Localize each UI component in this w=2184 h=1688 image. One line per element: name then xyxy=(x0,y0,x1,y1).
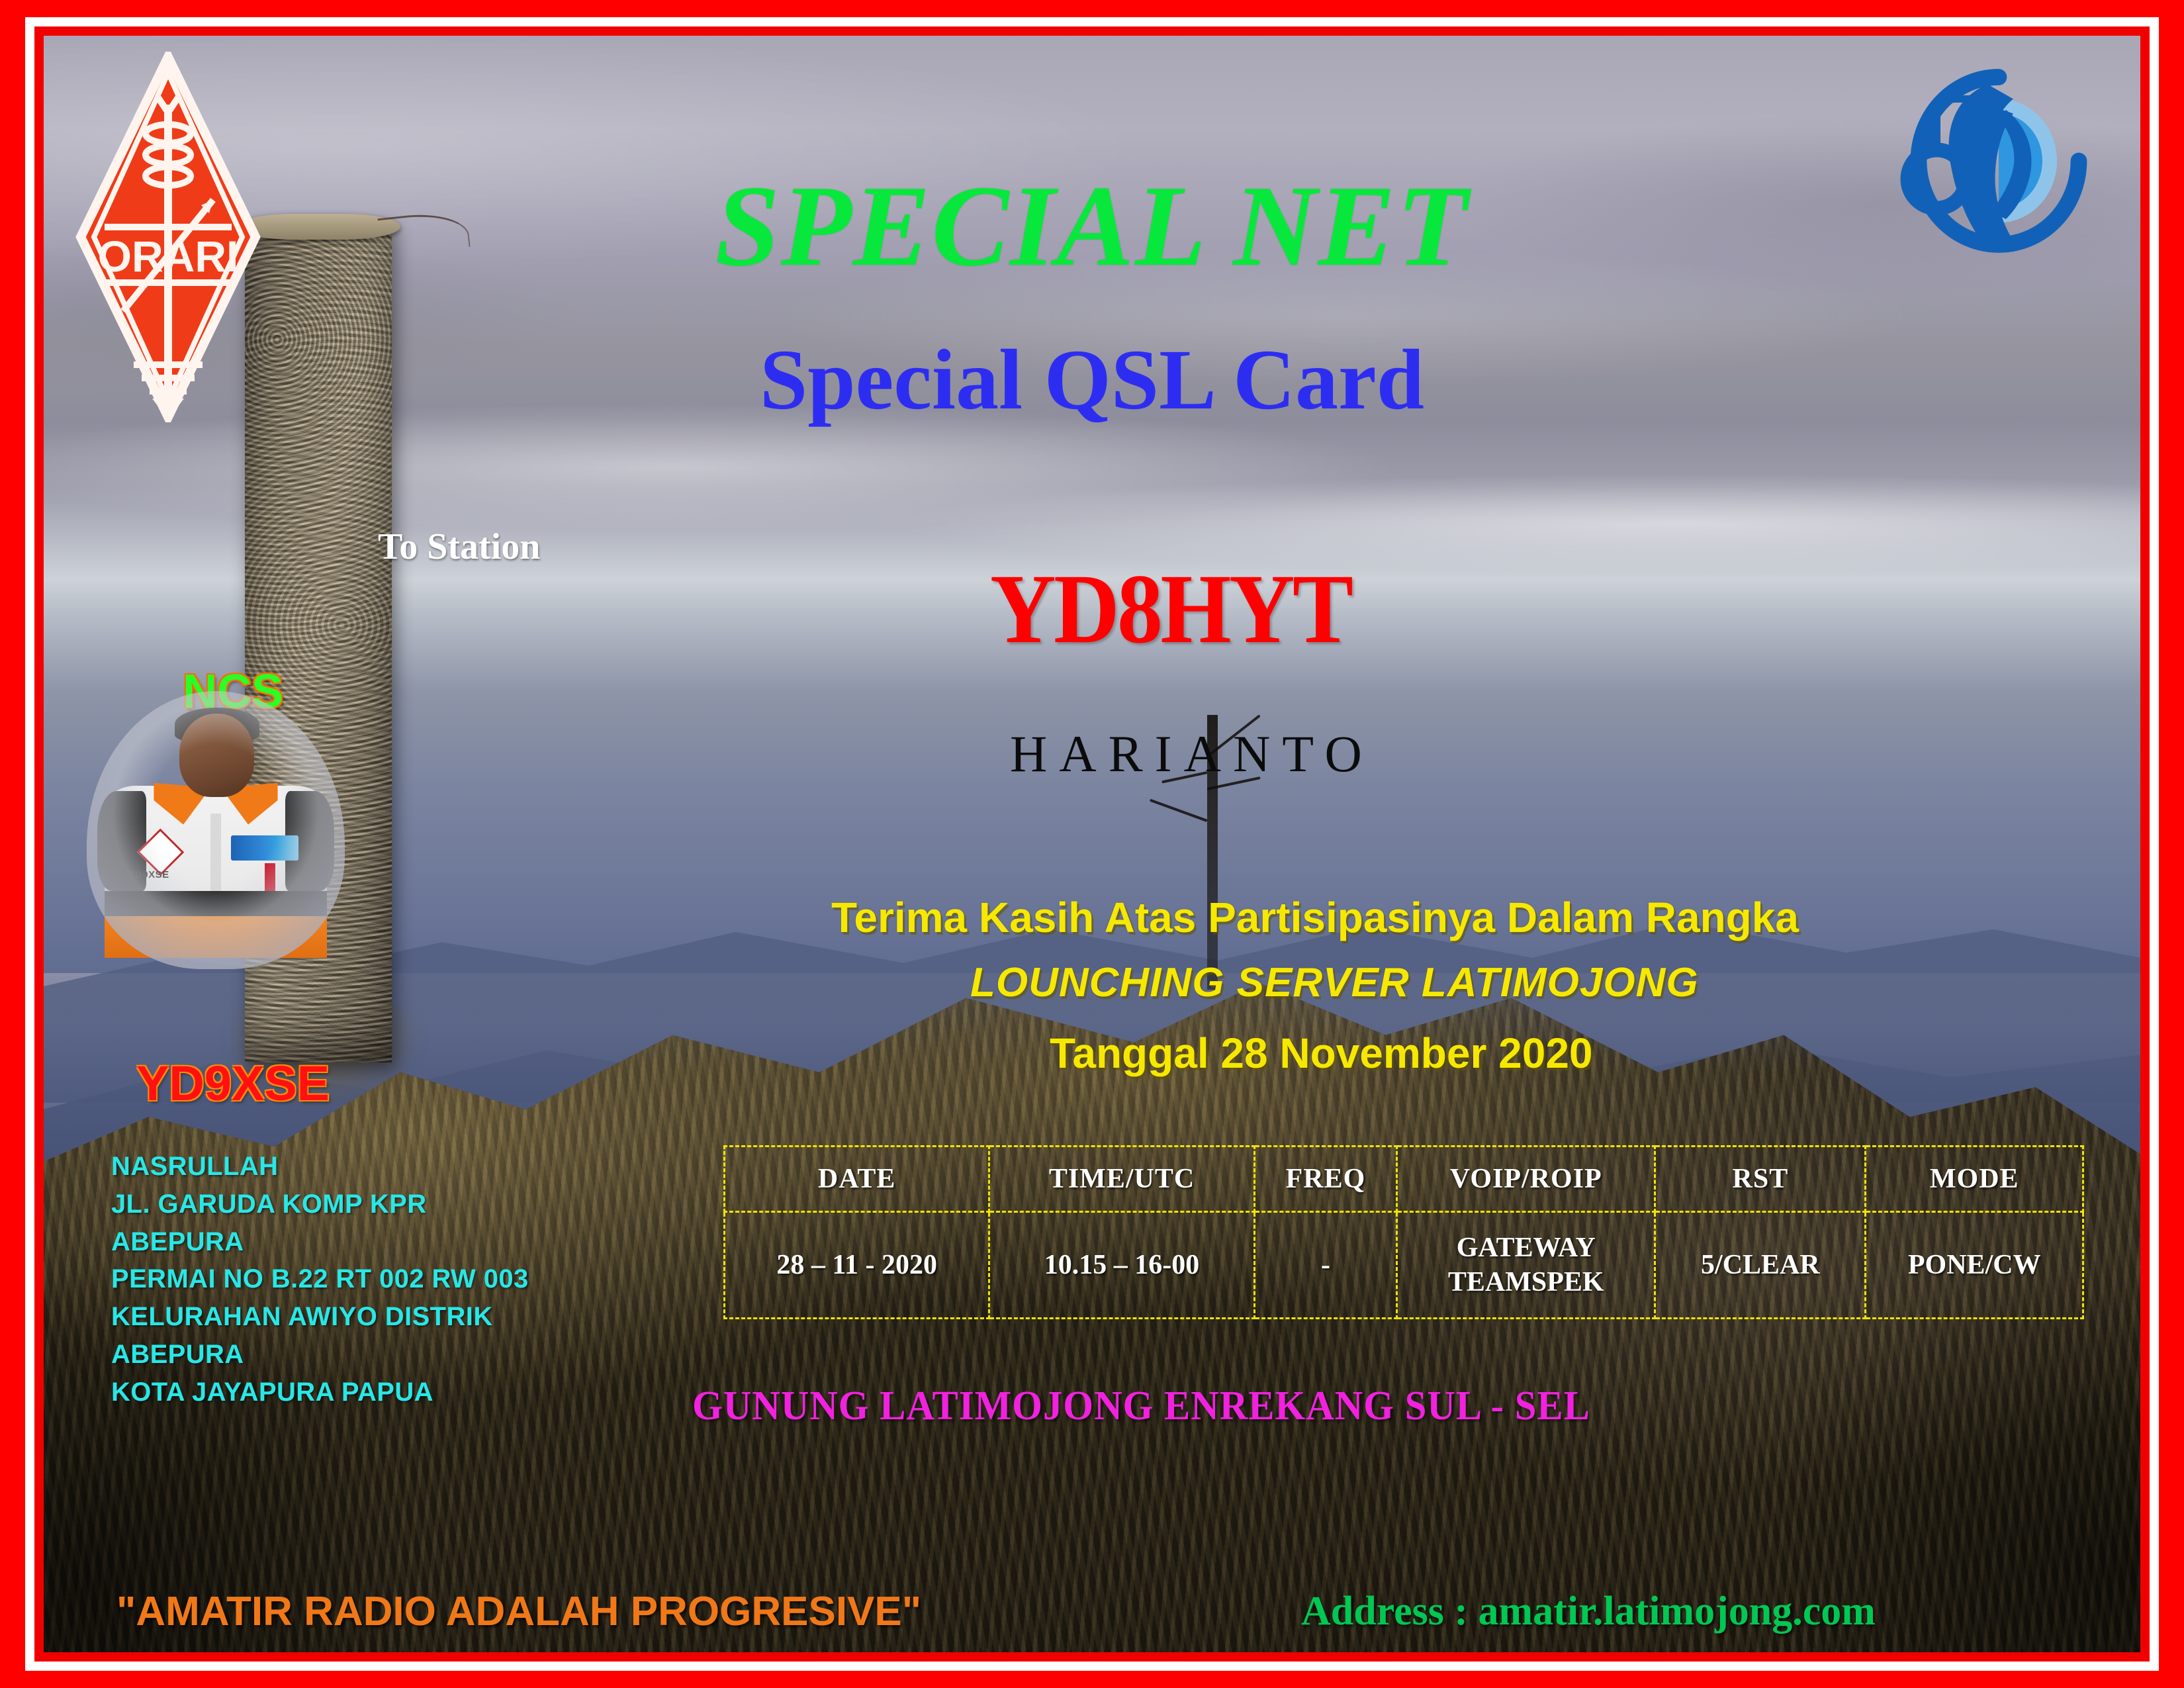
address-line: KELURAHAN AWIYO DISTRIK xyxy=(111,1298,529,1336)
column-header-voip: VOIP/ROIP xyxy=(1397,1147,1655,1212)
address-line: PERMAI NO B.22 RT 002 RW 003 xyxy=(111,1260,529,1298)
location-caption: GUNUNG LATIMOJONG ENREKANG SUL - SEL xyxy=(692,1383,1590,1430)
operator-face xyxy=(179,714,254,797)
address-line: JL. GARUDA KOMP KPR xyxy=(111,1186,529,1223)
column-header-date: DATE xyxy=(725,1147,989,1212)
address-line: ABEPURA xyxy=(111,1336,529,1374)
operator-name: HARIANTO xyxy=(1010,724,1374,784)
chest-callsign-text: YD9XSE xyxy=(128,869,195,886)
cell-date: 28 – 11 - 2020 xyxy=(725,1212,989,1319)
station-callsign: YD8HYT xyxy=(990,552,1351,666)
table-row: 28 – 11 - 2020 10.15 – 16-00 - GATEWAY T… xyxy=(725,1212,2083,1319)
web-address: Address : amatir.latimojong.com xyxy=(1301,1588,1876,1635)
ncs-address-block: NASRULLAH JL. GARUDA KOMP KPR ABEPURA PE… xyxy=(111,1148,529,1411)
event-chest-patch xyxy=(231,835,298,861)
address-line: NASRULLAH xyxy=(111,1148,529,1186)
card-background-photo: ORARI SPECIAL NET Special QSL Card xyxy=(44,36,2140,1652)
uniform-waistband xyxy=(105,916,326,958)
cell-voip-line1: GATEWAY xyxy=(1457,1233,1596,1263)
address-line: KOTA JAYAPURA PAPUA xyxy=(111,1374,529,1411)
ncs-operator-photo: YD9XSE xyxy=(87,691,345,969)
thanks-line: Terima Kasih Atas Partisipasinya Dalam R… xyxy=(831,893,1799,942)
ncs-callsign: YD9XSE xyxy=(136,1055,330,1111)
uniform-sash xyxy=(105,891,326,916)
table-header-row: DATE TIME/UTC FREQ VOIP/ROIP RST MODE xyxy=(725,1147,2083,1212)
event-line: LOUNCHING SERVER LATIMOJONG xyxy=(970,959,1699,1006)
qsl-card: ORARI SPECIAL NET Special QSL Card xyxy=(0,0,2184,1688)
column-header-time: TIME/UTC xyxy=(989,1147,1254,1212)
address-line: ABEPURA xyxy=(111,1223,529,1261)
cell-voip-line2: TEAMSPEK xyxy=(1448,1267,1604,1297)
event-date: Tanggal 28 November 2020 xyxy=(1050,1029,1593,1078)
motto-text: "AMATIR RADIO ADALAH PROGRESIVE" xyxy=(116,1588,921,1635)
qso-log-table: DATE TIME/UTC FREQ VOIP/ROIP RST MODE 28… xyxy=(723,1145,2084,1319)
page-subtitle: Special QSL Card xyxy=(44,337,2140,423)
column-header-mode: MODE xyxy=(1866,1147,2083,1212)
column-header-freq: FREQ xyxy=(1254,1147,1397,1212)
column-header-rst: RST xyxy=(1655,1147,1866,1212)
cell-time: 10.15 – 16-00 xyxy=(989,1212,1254,1319)
cell-voip: GATEWAY TEAMSPEK xyxy=(1397,1212,1655,1319)
page-title: SPECIAL NET xyxy=(44,168,2140,284)
to-station-label: To Station xyxy=(378,526,540,568)
cell-freq: - xyxy=(1254,1212,1397,1319)
cell-mode: PONE/CW xyxy=(1866,1212,2083,1319)
cell-rst: 5/CLEAR xyxy=(1655,1212,1866,1319)
